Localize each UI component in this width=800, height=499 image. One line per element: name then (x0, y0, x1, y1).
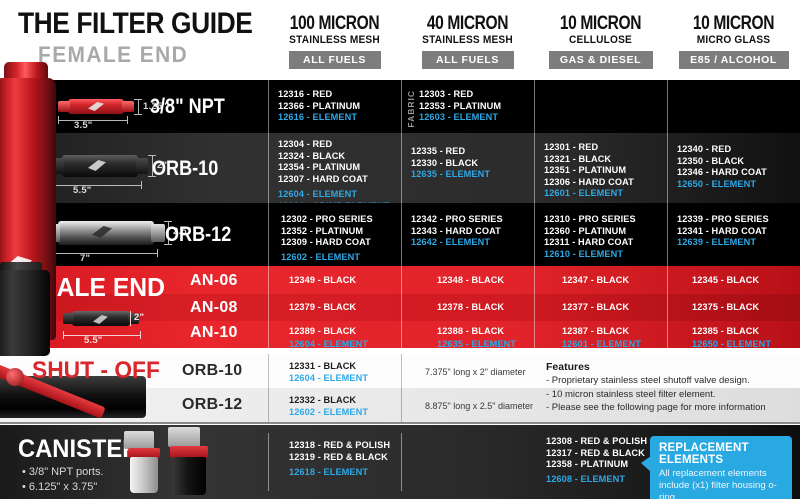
page-header: THE FILTER GUIDE FEMALE END 100 MICRON S… (0, 0, 800, 80)
section-label-shut-off: SHUT - OFF (32, 357, 160, 385)
cell-orb10-40micron: 12335 - RED 12330 - BLACK 12635 - ELEMEN… (411, 146, 490, 181)
orb10-length-dim: 5.5" (73, 185, 92, 196)
part-number: 12351 - PLATINUM (544, 165, 634, 177)
column-micron-label: 40 MICRON (413, 14, 522, 33)
part-number: 12306 - HARD COAT (544, 177, 634, 189)
part-number-element: 12602 - ELEMENT (289, 407, 368, 419)
part-number-element: 12601 - ELEMENT (544, 188, 634, 200)
column-header-10-micron-microglass: 10 MICRON MICRO GLASS E85 / ALCOHOL (667, 14, 800, 69)
column-material-label: STAINLESS MESH (406, 34, 528, 46)
part-number-element: 12642 - ELEMENT (411, 237, 503, 249)
row-label-orb10: ORB-10 (152, 157, 218, 181)
part-number: 12353 - PLATINUM (419, 101, 501, 113)
cell-canister-col1: 12318 - RED & POLISH 12319 - RED & BLACK… (289, 440, 390, 479)
part-number: 12345 - BLACK (692, 275, 759, 287)
female-end-subtitle: FEMALE END (38, 42, 188, 68)
part-number-element: 12604 - ELEMENT (289, 373, 368, 385)
part-number: 12331 - BLACK (289, 361, 356, 373)
cell-npt-100micron: 12316 - RED 12366 - PLATINUM 12616 - ELE… (278, 89, 360, 124)
part-number-element: 12618 - ELEMENT (289, 467, 390, 479)
part-number: 12316 - RED (278, 89, 360, 101)
section-separator (0, 422, 800, 424)
canister-bullets: • 3/8" NPT ports. • 6.125" x 3.75" (22, 465, 104, 495)
part-number: 12343 - HARD COAT (411, 226, 503, 238)
part-number: 12308 - RED & POLISH (546, 436, 647, 448)
feature-item: - Please see the following page for more… (546, 401, 766, 415)
part-number-element: 12608 - ELEMENT (546, 474, 647, 486)
male-size-an06: AN-06 (190, 272, 238, 290)
part-number: 12385 - BLACK (692, 326, 759, 338)
replacement-elements-callout: REPLACEMENT ELEMENTS All replacement ele… (650, 436, 792, 499)
part-number: 12375 - BLACK (692, 302, 759, 314)
part-number: 12388 - BLACK (437, 326, 504, 338)
part-number: 12354 - PLATINUM (278, 162, 390, 174)
part-number-element: 12639 - ELEMENT (677, 237, 769, 249)
part-number: 12378 - BLACK (437, 302, 504, 314)
part-number-element: 12604 - ELEMENT (278, 189, 390, 201)
column-fuel-badge: ALL FUELS (422, 51, 514, 69)
part-number-element: 12603 - ELEMENT (419, 112, 501, 124)
part-number: 12352 - PLATINUM (281, 226, 373, 238)
part-number: 12319 - RED & BLACK (289, 452, 390, 464)
part-number: 12317 - RED & BLACK (546, 448, 647, 460)
cell-orb12-100micron: 12302 - PRO SERIES 12352 - PLATINUM 1230… (281, 214, 373, 263)
shutoff-size-orb12: ORB-12 (182, 396, 242, 414)
part-number-element: 12610 - ELEMENT (544, 249, 636, 261)
part-number: 12347 - BLACK (562, 275, 629, 287)
section-label-canister: CANISTER (18, 435, 139, 464)
part-number: 12311 - HARD COAT (544, 237, 636, 249)
row-npt: 3.5" 1.25" 3/8" NPT FABRIC 12316 - RED 1… (0, 80, 800, 133)
part-number: 12379 - BLACK (289, 302, 356, 314)
part-number-element: 12616 - ELEMENT (278, 112, 360, 124)
part-number: 12309 - HARD COAT (281, 237, 373, 249)
canister-bullet: • 6.125" x 3.75" (22, 480, 104, 495)
part-number-element: 12604 - ELEMENT (289, 339, 368, 348)
npt-length-dim: 3.5" (74, 120, 93, 131)
shutoff-dims-orb12: 8.875" long x 2.5" diameter (425, 401, 533, 411)
part-number-element: 12650 - ELEMENT (677, 179, 767, 191)
part-number: 12377 - BLACK (562, 302, 629, 314)
part-number-element: 12602 - ELEMENT (281, 252, 373, 264)
shutoff-dims-orb10: 7.375" long x 2" diameter (425, 367, 525, 377)
page-title: THE FILTER GUIDE (18, 7, 252, 41)
callout-title: REPLACEMENT ELEMENTS (659, 442, 783, 466)
part-number: 12349 - BLACK (289, 275, 356, 287)
row-orb12: 7" 2.5" ORB-12 12302 - PRO SERIES 12352 … (0, 203, 800, 266)
column-header-10-micron-cellulose: 10 MICRON CELLULOSE GAS & DIESEL (534, 14, 667, 69)
part-number: 12302 - PRO SERIES (281, 214, 373, 226)
part-number: 12339 - PRO SERIES (677, 214, 769, 226)
part-number: 12304 - RED (278, 139, 390, 151)
feature-item: - Proprietary stainless steel shutoff va… (546, 374, 766, 388)
part-number: 12307 - HARD COAT (278, 174, 390, 186)
male-size-an08: AN-08 (190, 299, 238, 317)
column-fuel-badge: ALL FUELS (289, 51, 381, 69)
column-micron-label: 10 MICRON (546, 14, 655, 33)
part-number: 12348 - BLACK (437, 275, 504, 287)
filter-guide-sheet: THE FILTER GUIDE FEMALE END 100 MICRON S… (0, 0, 800, 499)
part-number-element: 12650 - ELEMENT (692, 339, 771, 348)
part-number: 12318 - RED & POLISH (289, 440, 390, 452)
fabric-tag: FABRIC (406, 90, 416, 128)
part-number: 12342 - PRO SERIES (411, 214, 503, 226)
callout-body: All replacement elements include (x1) fi… (659, 468, 783, 499)
part-number: 12332 - BLACK (289, 395, 356, 407)
part-number: 12321 - BLACK (544, 154, 634, 166)
column-fuel-badge: GAS & DIESEL (549, 51, 653, 69)
part-number: 12324 - BLACK (278, 151, 390, 163)
column-micron-label: 100 MICRON (280, 14, 389, 33)
male-diameter-dim: 2" (134, 312, 144, 323)
part-number: 12360 - PLATINUM (544, 226, 636, 238)
cell-orb10-10micron-cellulose: 12301 - RED 12321 - BLACK 12351 - PLATIN… (544, 142, 634, 200)
canister-bullet: • 3/8" NPT ports. (22, 465, 104, 480)
part-number: 12301 - RED (544, 142, 634, 154)
cell-canister-col3: 12308 - RED & POLISH 12317 - RED & BLACK… (546, 436, 647, 485)
row-orb10: 5.5" 2" ORB-10 12304 - RED 12324 - BLACK… (0, 133, 800, 203)
column-fuel-badge: E85 / ALCOHOL (679, 51, 789, 69)
part-number: 12341 - HARD COAT (677, 226, 769, 238)
part-number: 12350 - BLACK (677, 156, 767, 168)
cell-orb10-10micron-microglass: 12340 - RED 12350 - BLACK 12346 - HARD C… (677, 144, 767, 190)
hero-male-fitting-image (0, 270, 50, 356)
feature-item: - 10 micron stainless steel filter eleme… (546, 388, 766, 402)
part-number: 12330 - BLACK (411, 158, 490, 170)
cell-orb12-10micron-cellulose: 12310 - PRO SERIES 12360 - PLATINUM 1231… (544, 214, 636, 260)
column-material-label: MICRO GLASS (672, 34, 794, 46)
row-label-npt: 3/8" NPT (150, 95, 225, 119)
column-header-40-micron: 40 MICRON STAINLESS MESH ALL FUELS (401, 14, 534, 69)
column-micron-label: 10 MICRON (679, 14, 788, 33)
part-number: 12389 - BLACK (289, 326, 356, 338)
part-number: 12346 - HARD COAT (677, 167, 767, 179)
cell-orb10-100micron: 12304 - RED 12324 - BLACK 12354 - PLATIN… (278, 139, 390, 203)
column-material-label: CELLULOSE (539, 34, 661, 46)
canister-section: CANISTER • 3/8" NPT ports. • 6.125" x 3.… (0, 425, 800, 499)
male-length-dim: 5.5" (84, 335, 103, 346)
part-number: 12303 - RED (419, 89, 501, 101)
shutoff-knob-icon (6, 368, 24, 386)
cell-npt-40micron: 12303 - RED 12353 - PLATINUM 12603 - ELE… (419, 89, 501, 124)
part-number: 12387 - BLACK (562, 326, 629, 338)
orb12-length-dim: 7" (80, 253, 90, 264)
features-list: - Proprietary stainless steel shutoff va… (546, 374, 766, 415)
part-number-element: 12601 - ELEMENT (562, 339, 641, 348)
column-material-label: STAINLESS MESH (273, 34, 395, 46)
part-number-element: 12635 - ELEMENT (411, 169, 490, 181)
part-number: 12340 - RED (677, 144, 767, 156)
cell-orb12-10micron-microglass: 12339 - PRO SERIES 12341 - HARD COAT 126… (677, 214, 769, 249)
row-label-orb12: ORB-12 (165, 223, 231, 247)
part-number-element: 12635 - ELEMENT (437, 339, 516, 348)
features-title: Features (546, 361, 590, 373)
column-header-100-micron: 100 MICRON STAINLESS MESH ALL FUELS (268, 14, 401, 69)
cell-orb12-40micron: 12342 - PRO SERIES 12343 - HARD COAT 126… (411, 214, 503, 249)
male-size-an10: AN-10 (190, 324, 238, 342)
part-number: 12366 - PLATINUM (278, 101, 360, 113)
part-number: 12335 - RED (411, 146, 490, 158)
part-number: 12310 - PRO SERIES (544, 214, 636, 226)
shutoff-size-orb10: ORB-10 (182, 362, 242, 380)
part-number: 12358 - PLATINUM (546, 459, 647, 471)
